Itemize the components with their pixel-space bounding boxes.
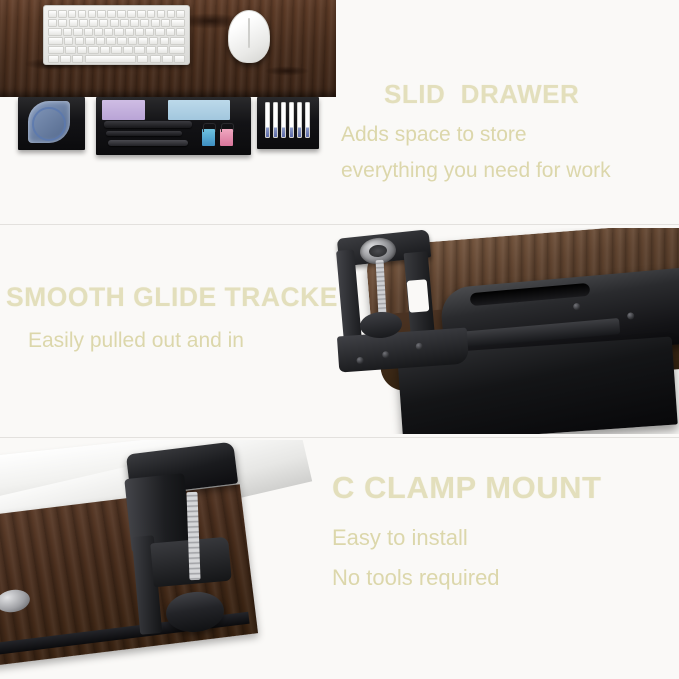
keyboard-key: [145, 28, 154, 36]
body-line-c-clamp-mount-2: No tools required: [332, 562, 676, 594]
keyboard-key: [117, 10, 126, 18]
organizer-compartment-right: [257, 97, 319, 149]
keyboard-key: [149, 37, 158, 45]
keyboard-key: [151, 19, 160, 27]
keyboard-key: [85, 37, 94, 45]
keyboard-key: [78, 10, 87, 18]
keyboard-key: [150, 55, 161, 63]
keyboard-key: [79, 19, 88, 27]
white-marker: [305, 102, 310, 138]
keyboard-key: [120, 19, 129, 27]
keyboard-key: [157, 10, 166, 18]
keyboard-key: [130, 19, 139, 27]
keyboard-key: [84, 28, 93, 36]
white-marker: [297, 102, 302, 138]
keyboard-key: [161, 19, 170, 27]
keyboard-row: [48, 10, 185, 18]
keyboard-row: [48, 37, 185, 45]
pen: [106, 131, 182, 136]
keyboard-key: [73, 28, 82, 36]
white-marker: [281, 102, 286, 138]
body-line-slid-drawer-1: Adds space to store: [341, 120, 679, 150]
binder-clip-blue: [202, 129, 215, 146]
screw: [416, 343, 423, 350]
body-line-slid-drawer-2: everything you need for work: [341, 156, 679, 186]
keyboard-key: [160, 37, 169, 45]
section-divider-1: [0, 224, 679, 225]
text-block-smooth-glide-tracke: SMOOTH GLIDE TRACKE Easily pulled out an…: [6, 282, 336, 357]
text-block-c-clamp-mount: C CLAMP MOUNT Easy to install No tools r…: [332, 470, 676, 593]
keyboard-key: [63, 28, 72, 36]
blue-sticky-notes: [168, 100, 230, 120]
photo-slid-drawer: [0, 0, 336, 200]
screw: [382, 351, 389, 358]
keyboard-key: [111, 46, 121, 54]
keyboard-key: [128, 37, 137, 45]
photo-c-clamp-mount: [0, 440, 330, 679]
keyboard-key: [155, 28, 164, 36]
binder-clip-pink: [220, 129, 233, 146]
keyboard-key: [68, 10, 77, 18]
keyboard-key: [48, 28, 62, 36]
keyboard-key: [75, 37, 84, 45]
keyboard-key: [127, 10, 136, 18]
keyboard-key: [140, 19, 149, 27]
keyboard-key: [176, 28, 185, 36]
heading-slid-drawer: SLID DRAWER: [341, 80, 679, 110]
keyboard-key: [106, 37, 115, 45]
wood-grain-knot: [264, 66, 310, 76]
keyboard-key: [89, 19, 98, 27]
product-infographic: SLID DRAWER Adds space to store everythi…: [0, 0, 679, 679]
keyboard-row: [48, 46, 185, 54]
keyboard-key: [100, 46, 110, 54]
keyboard-row: [48, 55, 185, 63]
keyboard-key: [137, 10, 146, 18]
keyboard-key: [48, 46, 64, 54]
heading-c-clamp-mount: C CLAMP MOUNT: [332, 470, 676, 506]
keyboard-key: [170, 37, 185, 45]
keyboard-key: [48, 19, 57, 27]
keyboard-key: [137, 55, 148, 63]
keyboard-key: [166, 28, 175, 36]
keyboard-row: [48, 19, 185, 27]
blue-ruler: [28, 101, 70, 143]
wireless-mouse: [228, 10, 270, 63]
wireless-keyboard: [43, 5, 190, 65]
keyboard-key: [114, 28, 123, 36]
keyboard-key: [134, 46, 144, 54]
keyboard-key: [69, 19, 78, 27]
keyboard-key: [162, 55, 173, 63]
photo-smooth-glide-tracke: [330, 228, 679, 434]
organizer-compartment-center: [96, 97, 251, 155]
section-divider-2: [0, 437, 679, 438]
keyboard-key: [104, 28, 113, 36]
keyboard-key: [48, 10, 57, 18]
white-marker: [273, 102, 278, 138]
keyboard-key: [48, 55, 59, 63]
keyboard-key: [123, 46, 133, 54]
keyboard-key: [58, 19, 67, 27]
keyboard-key: [110, 19, 119, 27]
keyboard-key: [138, 37, 147, 45]
keyboard-key: [174, 55, 185, 63]
c-clamp-cutout-window: [407, 279, 430, 313]
keyboard-key: [157, 46, 167, 54]
keyboard-key: [125, 28, 134, 36]
white-marker: [265, 102, 270, 138]
keyboard-key: [88, 10, 97, 18]
keyboard-key: [94, 28, 103, 36]
white-marker: [289, 102, 294, 138]
keyboard-key: [117, 37, 126, 45]
keyboard-key: [60, 55, 71, 63]
organizer-compartment-left: [18, 97, 85, 150]
keyboard-key: [135, 28, 144, 36]
body-line-c-clamp-mount-1: Easy to install: [332, 522, 676, 554]
keyboard-key: [58, 10, 67, 18]
text-block-slid-drawer: SLID DRAWER Adds space to store everythi…: [341, 80, 679, 187]
keyboard-key: [88, 46, 98, 54]
keyboard-key: [107, 10, 116, 18]
keyboard-key: [176, 10, 185, 18]
keyboard-key: [97, 10, 106, 18]
keyboard-row: [48, 28, 185, 36]
keyboard-key: [64, 37, 73, 45]
pen: [108, 140, 188, 146]
keyboard-key: [65, 46, 75, 54]
pen: [104, 121, 192, 128]
keyboard-key: [77, 46, 87, 54]
body-line-smooth-glide-tracke-1: Easily pulled out and in: [6, 326, 336, 356]
keyboard-key: [72, 55, 83, 63]
screw: [627, 312, 635, 320]
keyboard-key: [171, 19, 185, 27]
purple-sticky-notes: [102, 100, 145, 120]
screw: [573, 303, 581, 311]
heading-smooth-glide-tracke: SMOOTH GLIDE TRACKE: [6, 282, 336, 312]
keyboard-key: [99, 19, 108, 27]
keyboard-key: [169, 46, 185, 54]
keyboard-key: [96, 37, 105, 45]
keyboard-spacebar: [85, 55, 137, 63]
keyboard-key: [147, 10, 156, 18]
keyboard-key: [146, 46, 156, 54]
screw: [356, 357, 363, 364]
keyboard-key: [167, 10, 176, 18]
keyboard-key: [48, 37, 63, 45]
